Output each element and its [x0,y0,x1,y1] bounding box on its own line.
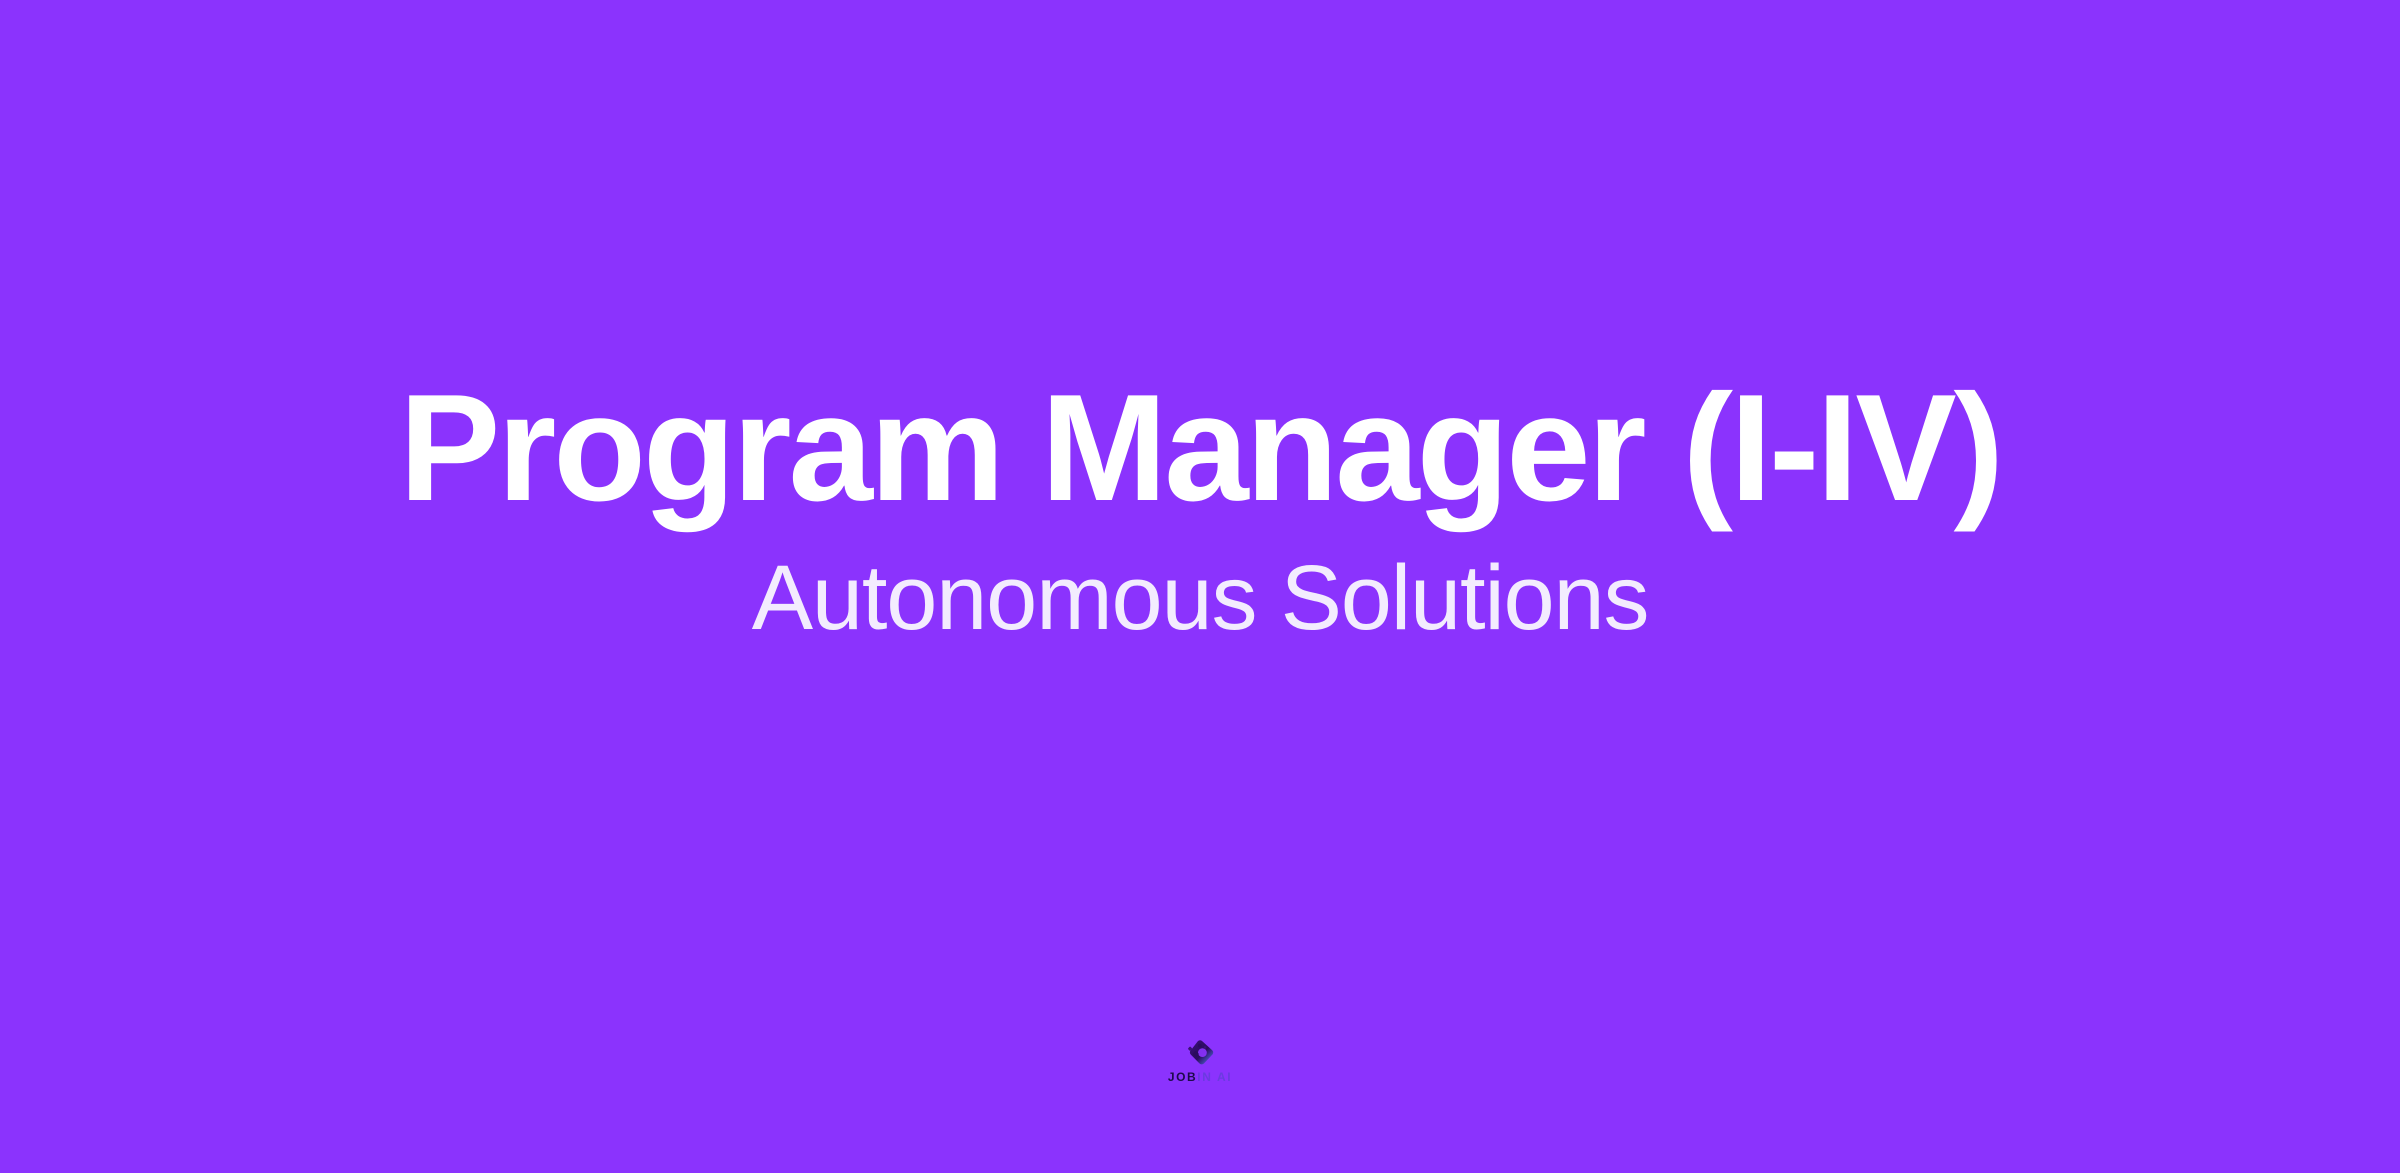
brand-wordmark-secondary: IN AI [1197,1071,1232,1083]
title-slide: Program Manager (I-IV) Autonomous Soluti… [0,0,2400,1173]
jobinai-logo-icon [1184,1038,1216,1068]
page-subtitle: Autonomous Solutions [752,524,1649,644]
title-block: Program Manager (I-IV) Autonomous Soluti… [0,372,2400,644]
brand-wordmark: JOB IN AI [1168,1071,1232,1083]
brand-logo: JOB IN AI [1168,1038,1232,1083]
page-title: Program Manager (I-IV) [399,372,2001,524]
brand-wordmark-primary: JOB [1168,1071,1197,1083]
